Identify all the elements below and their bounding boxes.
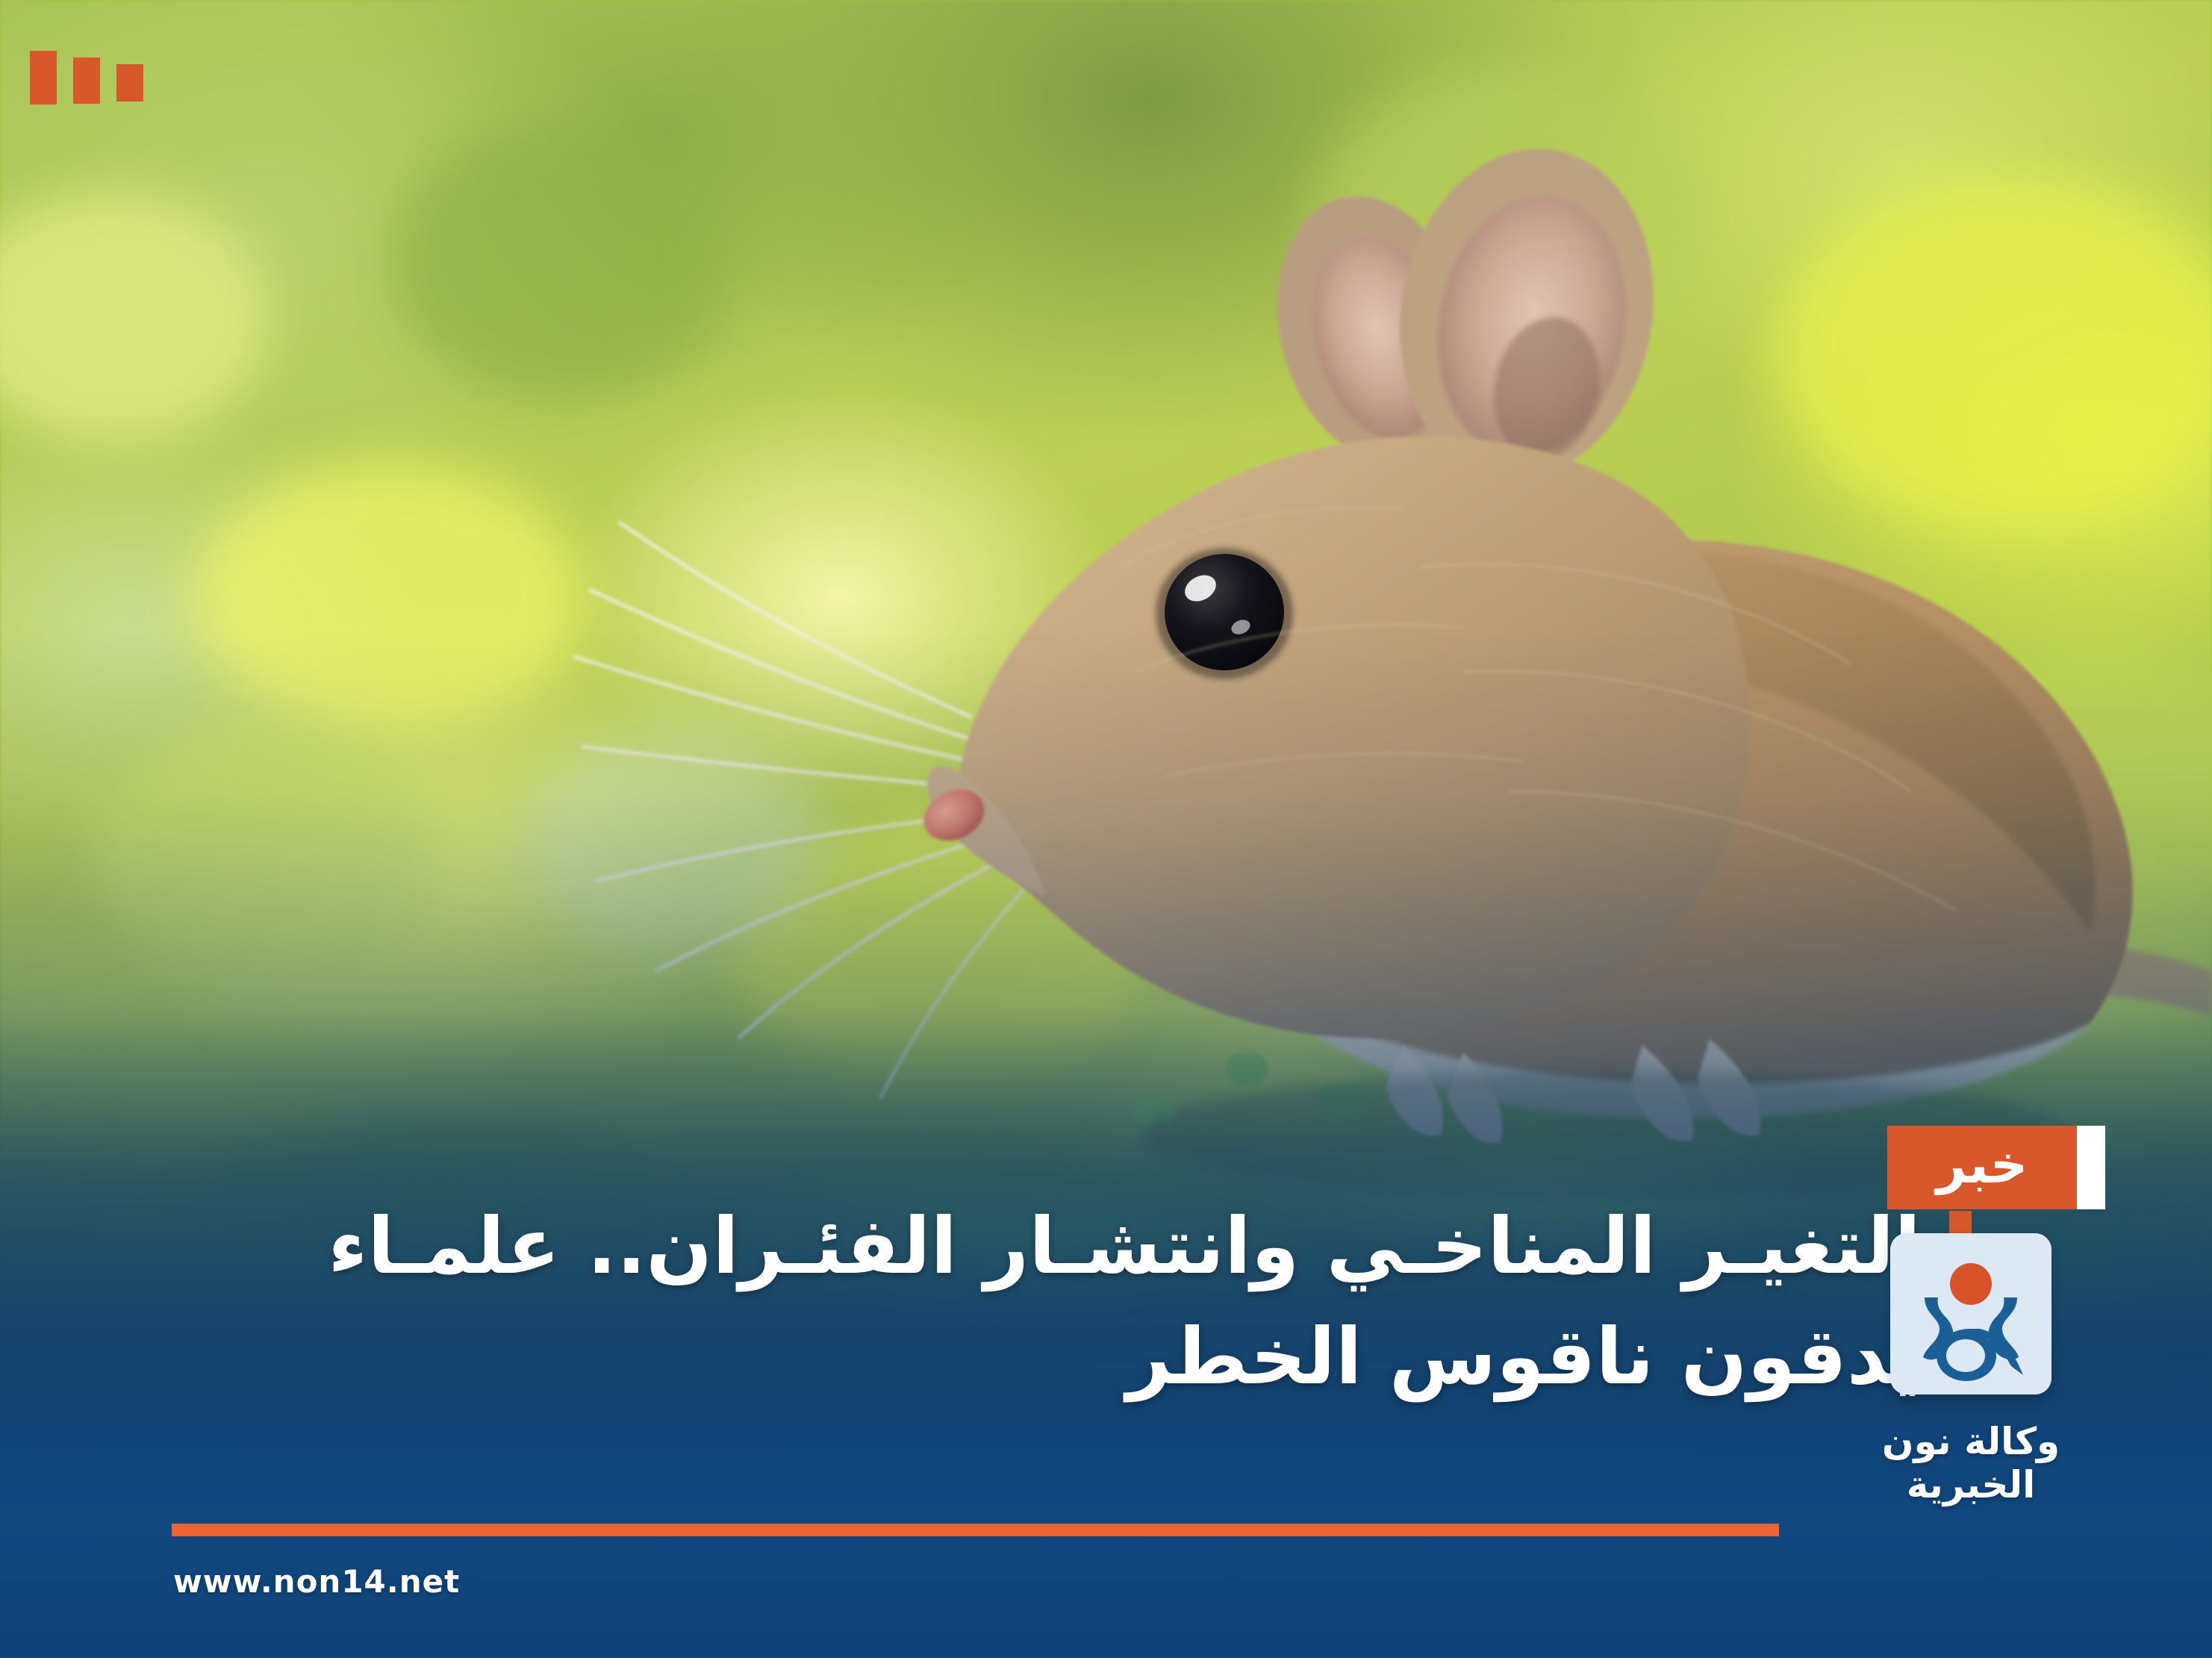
mouse-eye	[1156, 548, 1293, 679]
headline-line-2: يدقون ناقوس الخطر	[127, 1302, 1921, 1412]
news-badge-box: خبر	[1887, 1126, 2077, 1209]
noon-agency-logo-icon	[1890, 1233, 2051, 1394]
bar-short-icon	[116, 64, 143, 102]
brand-name-label: وكالة نون الخبرية	[1836, 1420, 2105, 1506]
brand-block: خبر وكالة نون الخبرية	[1836, 1126, 2105, 1506]
logo-noon-counter-icon	[1946, 1339, 1985, 1372]
mouse-head	[959, 436, 1749, 1038]
bar-medium-icon	[73, 57, 100, 104]
news-badge-white-bar-icon	[2077, 1126, 2105, 1209]
headline-block: التغيـر المناخـي وانتشـار الفئـران.. علم…	[127, 1191, 1921, 1412]
logo-dot-icon	[1950, 1263, 1992, 1305]
site-url-label[interactable]: www.non14.net	[173, 1563, 460, 1600]
headline-line-1: التغيـر المناخـي وانتشـار الفئـران.. علم…	[127, 1191, 1921, 1302]
footer-rule	[172, 1524, 1779, 1536]
bar-tall-icon	[30, 51, 57, 105]
news-badge-label: خبر	[1937, 1138, 2028, 1197]
three-bars-mark-icon	[30, 51, 143, 105]
news-card: التغيـر المناخـي وانتشـار الفئـران.. علم…	[0, 0, 2212, 1658]
news-badge: خبر	[1887, 1126, 2105, 1209]
